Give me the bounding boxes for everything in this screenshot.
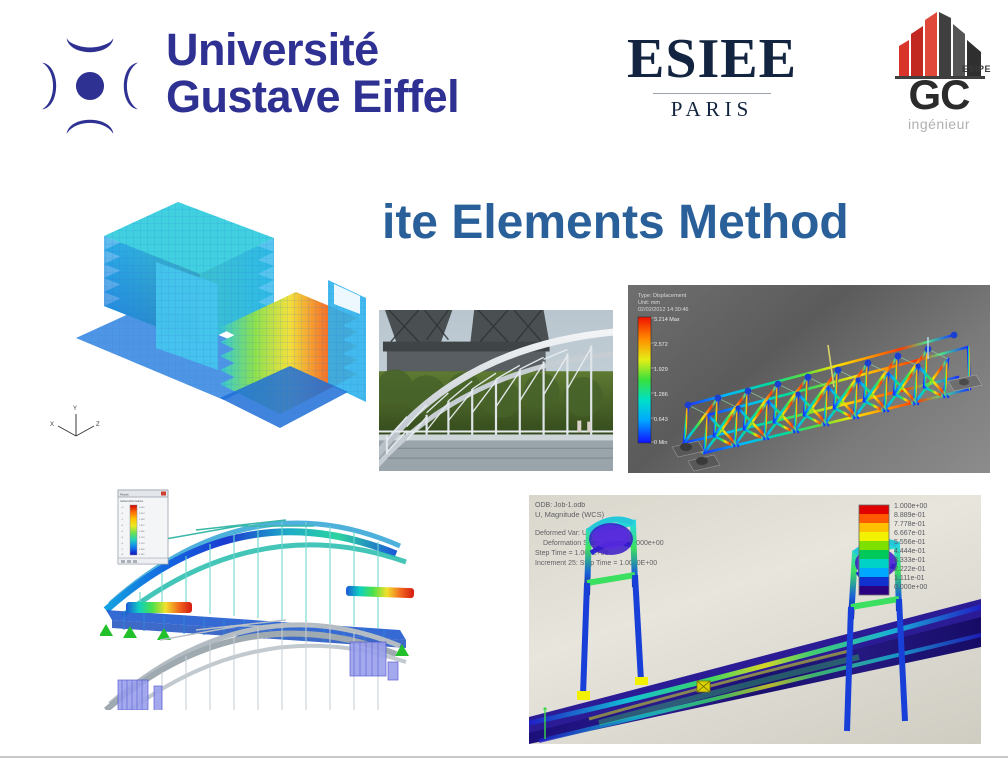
svg-text:X: X bbox=[50, 422, 54, 428]
svg-text:4.992: 4.992 bbox=[139, 554, 145, 556]
svg-text:3.333e-01: 3.333e-01 bbox=[894, 557, 926, 564]
steel-arch-bridge-photo-graphic bbox=[379, 310, 613, 471]
gc-subtitle: ingénieur bbox=[885, 116, 993, 132]
page-title: Finite Elements Method bbox=[310, 196, 950, 250]
bridge-legend-panel: Results Global deformations +0-1-2 -3-4-… bbox=[118, 490, 168, 564]
svg-text:2.572: 2.572 bbox=[654, 342, 668, 348]
figure-bridge-photo bbox=[378, 309, 614, 472]
svg-text:1.248: 1.248 bbox=[139, 519, 145, 521]
svg-text:4.444e-01: 4.444e-01 bbox=[894, 548, 926, 555]
esiee-subtitle: PARIS bbox=[612, 97, 812, 122]
svg-text:0 Min: 0 Min bbox=[654, 440, 667, 446]
abaqus-text-3: Deformed Var: U bbox=[535, 530, 587, 537]
truss-legend-line-1: Type: Displacement bbox=[638, 293, 687, 299]
uge-line-2: Gustave Eiffel bbox=[166, 71, 459, 122]
svg-text:4.368: 4.368 bbox=[139, 549, 145, 551]
figure-building-fea: Y X Z bbox=[28, 188, 380, 470]
arch-bridge-analysis-graphic: Results Global deformations +0-1-2 -3-4-… bbox=[100, 484, 460, 710]
truss-legend-line-2: Unit: mm bbox=[638, 300, 660, 306]
figure-arch-bridge-analysis: Results Global deformations +0-1-2 -3-4-… bbox=[100, 484, 460, 710]
figure-truss-fea: Type: Displacement Unit: mm 02/02/2012 1… bbox=[628, 285, 990, 473]
abaqus-text-2: U, Magnitude (WCS) bbox=[535, 510, 605, 519]
svg-text:Y: Y bbox=[73, 406, 77, 412]
uge-line-1: Université bbox=[166, 24, 379, 75]
svg-text:Global deformations: Global deformations bbox=[120, 499, 144, 503]
abaqus-legend: 1.000e+00 8.889e-01 7.778e-01 6.667e-01 … bbox=[859, 503, 927, 595]
svg-text:5.556e-01: 5.556e-01 bbox=[894, 539, 926, 546]
abaqus-viaduct-graphic: ODB: Job-1.odb U, Magnitude (WCS) Deform… bbox=[529, 495, 981, 744]
svg-text:1.872: 1.872 bbox=[139, 525, 145, 527]
svg-text:2.222e-01: 2.222e-01 bbox=[894, 566, 926, 573]
svg-text:1.286: 1.286 bbox=[654, 392, 668, 398]
svg-text:Z: Z bbox=[96, 422, 100, 428]
truss-legend-colorbar bbox=[638, 317, 651, 443]
abaqus-text-1: ODB: Job-1.odb bbox=[535, 502, 585, 509]
svg-text:1.929: 1.929 bbox=[654, 367, 668, 373]
svg-text:8.889e-01: 8.889e-01 bbox=[894, 512, 926, 519]
logo-esiee-paris: ESIEE PARIS bbox=[612, 30, 812, 130]
svg-text:Results: Results bbox=[120, 493, 129, 497]
axis-triad-icon bbox=[58, 414, 94, 436]
svg-text:6.667e-01: 6.667e-01 bbox=[894, 530, 926, 537]
svg-text:0.000e+00: 0.000e+00 bbox=[894, 584, 927, 591]
svg-text:7.778e-01: 7.778e-01 bbox=[894, 521, 926, 528]
esiee-wordmark: ESIEE bbox=[612, 30, 812, 88]
svg-text:3.120: 3.120 bbox=[139, 537, 145, 539]
truss-legend-line-3: 02/02/2012 14:30:46 bbox=[638, 307, 688, 313]
figure-abaqus-viaduct: ODB: Job-1.odb U, Magnitude (WCS) Deform… bbox=[529, 495, 981, 744]
uge-wordmark: UniversitéGustave Eiffel bbox=[166, 26, 459, 120]
esiee-divider bbox=[653, 93, 771, 94]
gc-wordmark: GC bbox=[885, 74, 993, 116]
svg-text:0.624: 0.624 bbox=[139, 513, 145, 515]
svg-text:3.744: 3.744 bbox=[139, 543, 145, 545]
slide-canvas: UniversitéGustave Eiffel ESIEE PARIS ESI… bbox=[0, 0, 1008, 758]
svg-text:1.111e-01: 1.111e-01 bbox=[894, 575, 925, 582]
logo-universite-gustave-eiffel: UniversitéGustave Eiffel bbox=[38, 28, 488, 143]
svg-text:2.496: 2.496 bbox=[139, 531, 145, 533]
building-fea-mesh-graphic: Y X Z bbox=[28, 188, 380, 470]
abaqus-text-6: Increment 25: Step Time = 1.0000E+00 bbox=[535, 560, 657, 567]
svg-text:1.000e+00: 1.000e+00 bbox=[894, 503, 927, 510]
svg-text:0.643: 0.643 bbox=[654, 417, 668, 423]
svg-text:3.214 Max: 3.214 Max bbox=[654, 317, 680, 323]
svg-text:0.000: 0.000 bbox=[139, 507, 145, 509]
logo-gc-ingenieur: ESIPE GC ingénieur bbox=[885, 12, 993, 134]
uge-crescent-mark-icon bbox=[38, 34, 142, 138]
truss-fea-graphic: Type: Displacement Unit: mm 02/02/2012 1… bbox=[628, 285, 990, 473]
